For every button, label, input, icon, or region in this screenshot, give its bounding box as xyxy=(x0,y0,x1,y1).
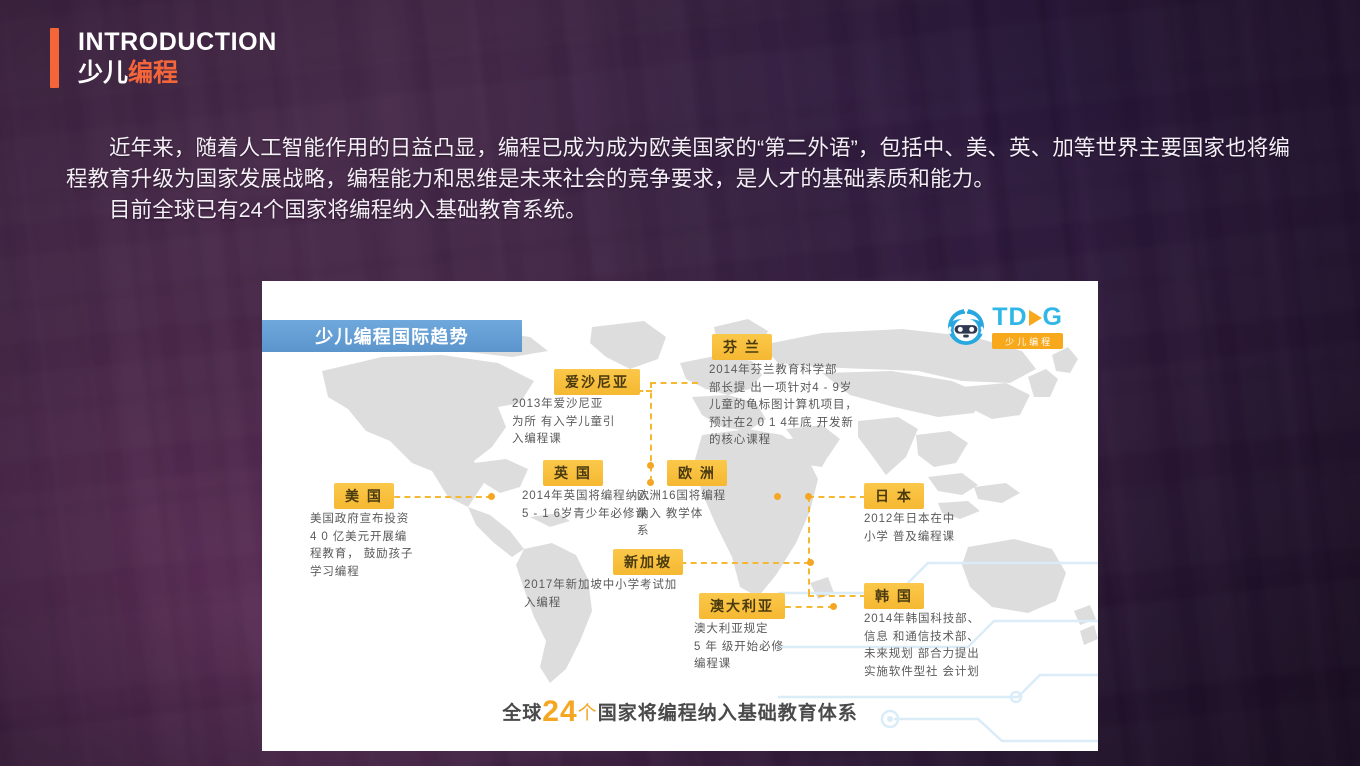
connector-japan-v xyxy=(808,496,810,595)
connector-dot-australia xyxy=(830,603,837,610)
slide-canvas: INTRODUCTION 少儿编程 近年来，随着人工智能作用的日益凸显，编程已成… xyxy=(0,0,1360,766)
page-title-chinese-white: 少儿 xyxy=(78,59,128,87)
page-title-english: INTRODUCTION xyxy=(78,28,277,56)
callout-chip-australia: 澳大利亚 xyxy=(699,593,785,619)
connector-dot-estonia xyxy=(647,462,654,469)
callout-chip-korea: 韩 国 xyxy=(864,583,924,609)
callout-chip-estonia: 爱沙尼亚 xyxy=(554,369,640,395)
body-copy: 近年来，随着人工智能作用的日益凸显，编程已成为成为欧美国家的“第二外语”，包括中… xyxy=(66,133,1306,226)
header-text-group: INTRODUCTION 少儿编程 xyxy=(78,28,277,88)
callout-chip-singapore: 新加坡 xyxy=(613,549,683,575)
page-title-chinese: 少儿编程 xyxy=(78,58,277,88)
infographic-caption: 全球24个国家将编程纳入基础教育体系 xyxy=(262,695,1098,729)
callout-chip-europe: 欧 洲 xyxy=(667,460,727,486)
callout-text-estonia: 2013年爱沙尼亚 为所 有入学儿童引 入编程课 xyxy=(512,396,662,449)
logo-letter-t: T xyxy=(992,305,1008,330)
caption-prefix: 全球 xyxy=(502,703,542,724)
page-title-chinese-orange: 编程 xyxy=(128,59,178,87)
connector-singapore-h xyxy=(670,562,810,564)
connector-dot-usa xyxy=(488,493,495,500)
logo-letter-d: D xyxy=(1008,305,1027,330)
callout-chip-japan: 日 本 xyxy=(864,483,924,509)
tdog-logo: TDG 少儿编程 xyxy=(947,305,1063,349)
infographic-banner-title: 少儿编程国际趋势 xyxy=(315,323,469,349)
callout-text-japan: 2012年日本在中 小学 普及编程课 xyxy=(864,511,1004,546)
body-paragraph-1: 近年来，随着人工智能作用的日益凸显，编程已成为成为欧美国家的“第二外语”，包括中… xyxy=(66,133,1306,195)
connector-dot-finland xyxy=(647,479,654,486)
tdog-wordmark: TDG 少儿编程 xyxy=(992,305,1063,349)
connector-usa-h xyxy=(384,496,492,498)
play-triangle-icon xyxy=(1029,310,1042,326)
body-paragraph-2: 目前全球已有24个国家将编程纳入基础教育系统。 xyxy=(66,195,1306,226)
logo-subtitle: 少儿编程 xyxy=(992,333,1063,349)
callout-chip-usa: 美 国 xyxy=(334,483,394,509)
header-accent-bar xyxy=(50,28,59,88)
caption-unit: 个 xyxy=(578,703,598,724)
infographic-banner: 少儿编程国际趋势 xyxy=(262,320,522,352)
callout-text-korea: 2014年韩国科技部、 信息 和通信技术部、 未来规划 部合力提出 实施软件型社… xyxy=(864,611,1024,681)
logo-letter-g: G xyxy=(1043,305,1063,330)
callout-text-finland: 2014年芬兰教育科学部 部长提 出一项针对4 - 9岁 儿童的龟标图计算机项目… xyxy=(709,362,899,450)
robot-dog-icon xyxy=(947,308,985,346)
connector-finland-h xyxy=(650,382,698,384)
callout-chip-finland: 芬 兰 xyxy=(712,334,772,360)
slide-header: INTRODUCTION 少儿编程 xyxy=(50,28,277,88)
caption-number: 24 xyxy=(542,695,577,728)
callout-chip-uk: 英 国 xyxy=(543,460,603,486)
connector-dot-singapore xyxy=(807,559,814,566)
connector-japan-h xyxy=(808,496,866,498)
connector-korea-h xyxy=(808,595,866,597)
connector-dot-japan xyxy=(805,493,812,500)
connector-dot-japan2 xyxy=(774,493,781,500)
caption-suffix: 国家将编程纳入基础教育体系 xyxy=(598,703,858,724)
infographic-card: 少儿编程国际趋势 TDG 少儿编程 xyxy=(262,281,1098,751)
tdog-word: TDG xyxy=(992,305,1063,330)
callout-text-australia: 澳大利亚规定 5 年 级开始必修 编程课 xyxy=(694,621,824,674)
callout-text-europe: 欧洲16国将编程 纳入 教学体 系 xyxy=(637,488,747,541)
callout-text-usa: 美国政府宣布投资 4 0 亿美元开展编 程教育， 鼓励孩子 学习编程 xyxy=(310,511,440,581)
